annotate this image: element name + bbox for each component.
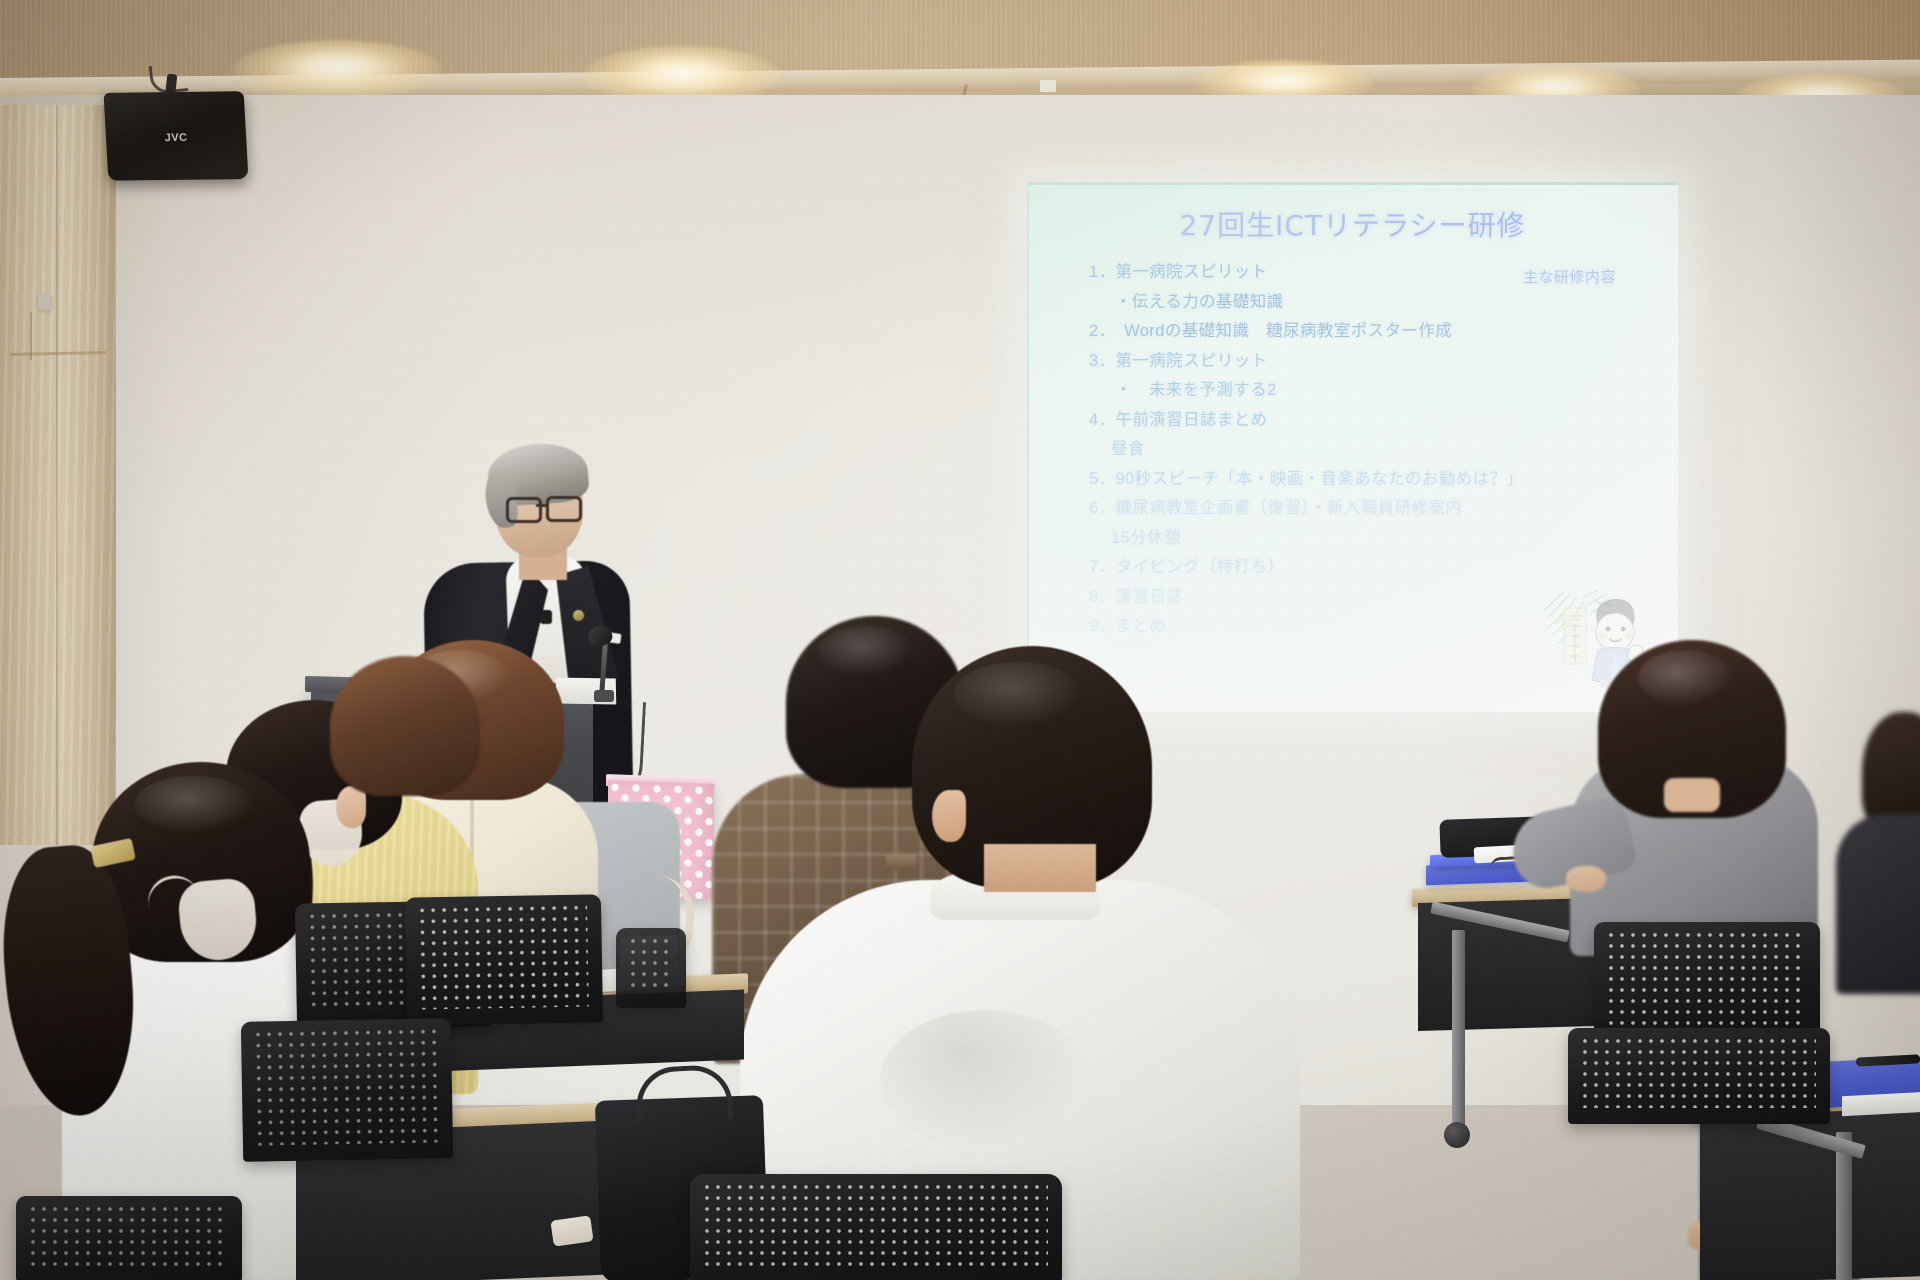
chair-perforations (255, 1028, 439, 1145)
agenda-item: 4．午前演習日誌まとめ (1089, 412, 1654, 429)
chair-center-back (616, 928, 686, 1008)
jvc-logo: JVC (164, 132, 188, 144)
agenda-item: ・伝える力の基礎知識 (1089, 294, 1654, 311)
agenda-item: 1．第一病院スピリット (1089, 264, 1654, 281)
white-top-hair-sheen (134, 776, 254, 832)
lapel-pin (573, 610, 584, 621)
wall-fixture (38, 294, 52, 310)
pillar-seam (56, 105, 58, 845)
glasses-icon (506, 497, 578, 519)
agenda-item: 昼食 (1089, 441, 1654, 458)
chair-bottom-left (16, 1196, 242, 1280)
white-shirt-man-hair-sheen (954, 662, 1082, 726)
chair-perforations (30, 1206, 228, 1266)
wall-hairline (30, 312, 32, 360)
wood-pillar (0, 105, 116, 845)
white-shirt-man-ear (932, 790, 966, 842)
grey-top-hair-sheen (1638, 650, 1734, 706)
screen-edge-left (1027, 182, 1029, 712)
chair-perforations (419, 905, 589, 1010)
agenda-item: 7．タイピング（特打ち） (1089, 559, 1654, 576)
white-shirt-man-neck (984, 844, 1096, 892)
chair-right-front (1568, 1028, 1830, 1124)
agenda-item: 15分休憩 (1089, 530, 1654, 547)
screen-edge-top (1027, 182, 1678, 185)
far-right-body (1836, 814, 1920, 994)
plaid-shirt-pleat (886, 854, 916, 870)
jvc-speaker: JVC (103, 91, 248, 181)
agenda-item: 5．90秒スピーチ「本・映画・音楽あなたのお勧めは？」 (1089, 471, 1654, 488)
chair-bottom-center (690, 1174, 1062, 1280)
back-left-auburn-hair (330, 656, 480, 796)
binder-pages (1842, 1092, 1920, 1117)
chair-left-2 (405, 894, 603, 1025)
slide-title: 27回生ICTリテラシー研修 (1027, 204, 1678, 244)
agenda-item: ・ 未来を予測する2 (1089, 382, 1654, 399)
white-shirt-fold (880, 1010, 1090, 1150)
chair-perforations (1582, 1038, 1816, 1108)
grey-top-hand (1566, 866, 1606, 892)
lavalier-microphone (540, 610, 552, 624)
chair-left-3 (241, 1018, 453, 1162)
right-desk-leg (1452, 930, 1465, 1130)
backpack-buckle (550, 1215, 593, 1246)
pillar-wood-grain (0, 105, 116, 845)
slide-content: 27回生ICTリテラシー研修 主な研修内容 1．第一病院スピリット ・伝える力の… (1027, 182, 1678, 712)
chair-perforations (1608, 932, 1806, 1040)
plaid-man-hair-sheen (818, 626, 914, 676)
lecture-room-photo: JVC 27回生ICTリテラシー研修 主な研修内容 1．第一病院スピリット ・伝… (0, 0, 1920, 1280)
agenda-item: 6．糖尿病教室企画書（復習）・新入職員研修案内 (1089, 500, 1654, 517)
projection-screen: 27回生ICTリテラシー研修 主な研修内容 1．第一病院スピリット ・伝える力の… (1027, 182, 1678, 712)
agenda-item: 2． Wordの基礎知識 糖尿病教室ポスター作成 (1089, 323, 1654, 340)
chair-perforations (704, 1184, 1048, 1266)
agenda-item: 3．第一病院スピリット (1089, 353, 1654, 370)
right-desk-caster (1444, 1122, 1470, 1148)
ceiling-clip (1040, 80, 1056, 92)
chair-perforations (630, 938, 672, 992)
